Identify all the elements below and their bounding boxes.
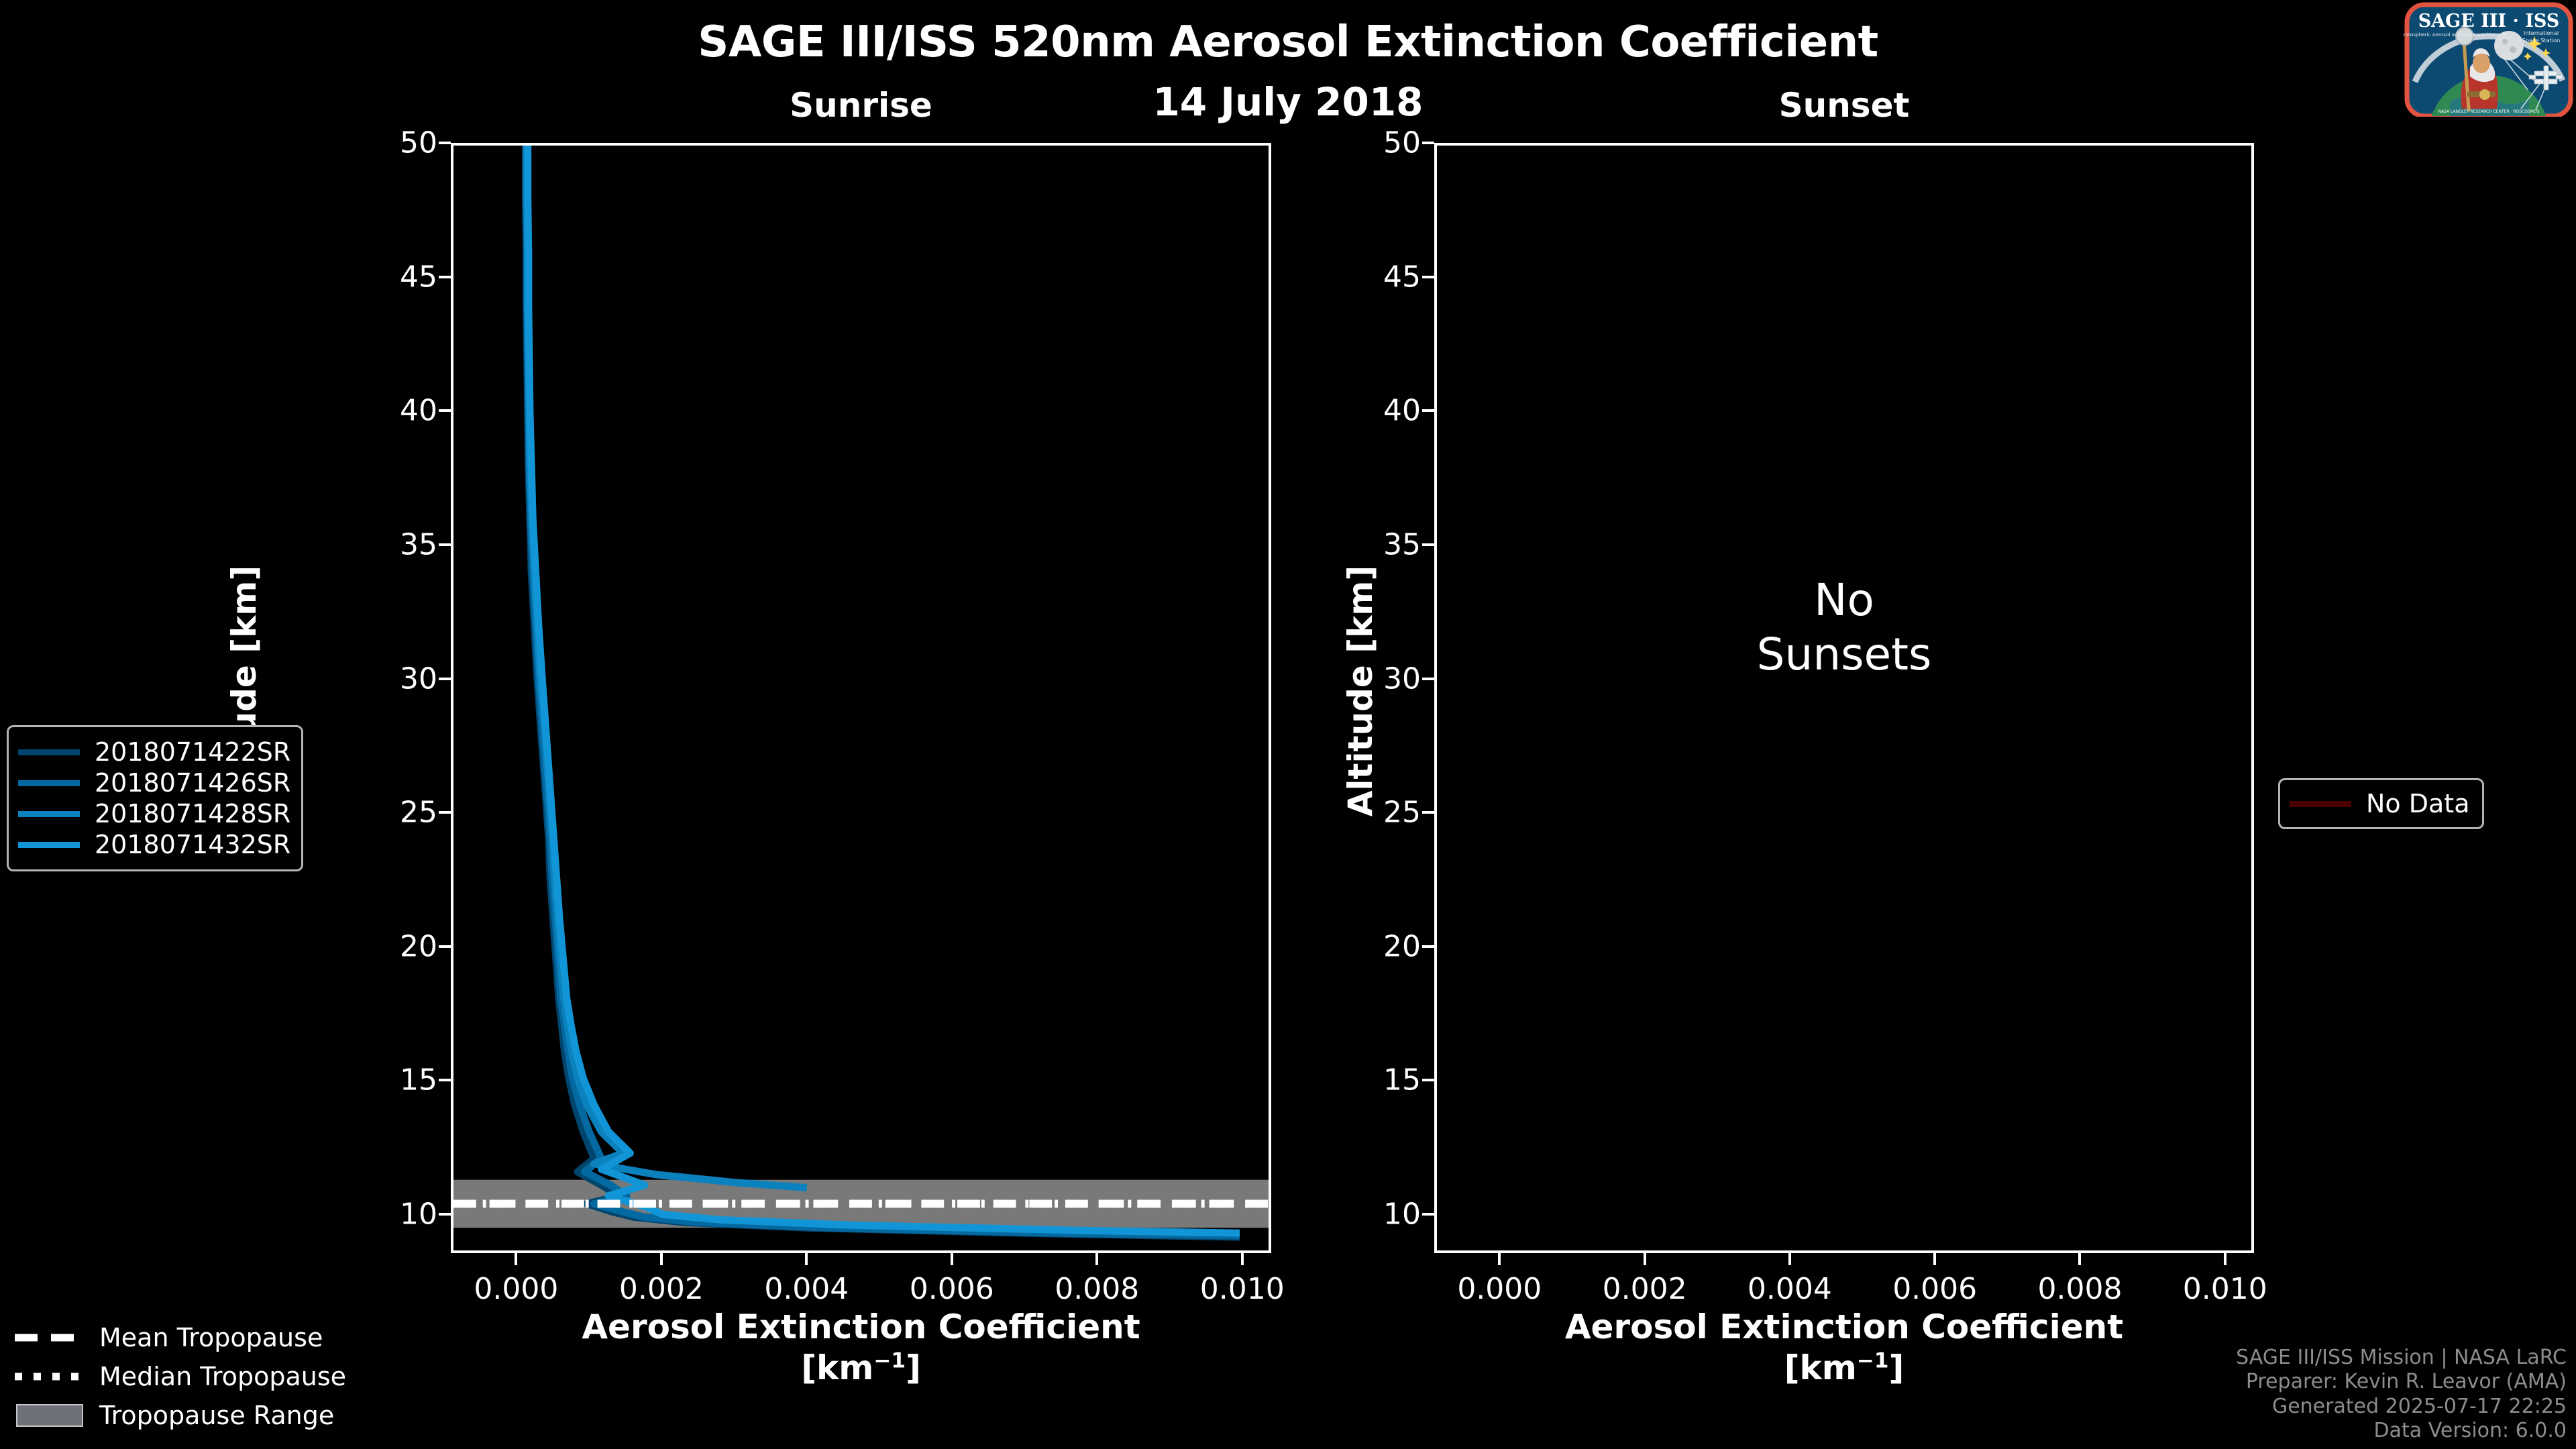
series-color-swatch — [18, 749, 80, 755]
sunset-plot-area — [1434, 143, 2254, 1253]
footer-preparer: Preparer: Kevin R. Leavor (AMA) — [2236, 1370, 2567, 1395]
dashed-line-icon — [15, 1328, 86, 1347]
y-axis-tick-label: 20 — [1327, 929, 1421, 963]
series-label: 2018071428SR — [95, 799, 290, 828]
y-axis-tick-mark — [1422, 678, 1434, 680]
y-axis-tick-label: 50 — [343, 126, 437, 160]
median-tropopause-label: Median Tropopause — [99, 1362, 346, 1391]
y-axis-tick-label: 15 — [1327, 1063, 1421, 1097]
y-axis-tick-mark — [1422, 1079, 1434, 1081]
legend-item[interactable]: 2018071426SR — [18, 767, 290, 798]
sunset-y-axis-title: Altitude [km] — [1341, 517, 1380, 865]
series-line — [528, 146, 1240, 1233]
x-axis-tick-mark — [2224, 1253, 2226, 1265]
y-axis-tick-mark — [439, 1213, 451, 1216]
legend-item[interactable]: No Data — [2290, 788, 2470, 819]
sunset-plot-canvas — [1437, 146, 2251, 1250]
x-axis-tick-mark — [1644, 1253, 1646, 1265]
y-axis-tick-mark — [1422, 811, 1434, 814]
series-line — [526, 146, 1240, 1237]
y-axis-tick-label: 35 — [343, 527, 437, 561]
logo-subtitle-right-1: International — [2524, 30, 2559, 36]
x-axis-title-text: Aerosol Extinction Coefficient — [451, 1307, 1271, 1348]
tropopause-legend-median: Median Tropopause — [15, 1357, 346, 1396]
x-axis-tick-mark — [1788, 1253, 1791, 1265]
y-axis-tick-label: 10 — [1327, 1197, 1421, 1232]
y-axis-tick-mark — [439, 409, 451, 412]
y-axis-tick-mark — [439, 811, 451, 814]
y-axis-tick-mark — [439, 678, 451, 680]
x-axis-tick-mark — [1933, 1253, 1936, 1265]
x-axis-unit: [km−1] — [451, 1348, 1271, 1389]
y-axis-tick-mark — [1422, 543, 1434, 546]
sunrise-panel-title: Sunrise — [451, 86, 1271, 125]
logo-subtitle-left: Stratospheric Aerosol and Gas Experiment… — [2403, 32, 2507, 38]
y-axis-tick-mark — [439, 142, 451, 144]
y-axis-tick-mark — [1422, 409, 1434, 412]
x-axis-tick-mark — [805, 1253, 808, 1265]
x-axis-tick-label: 0.010 — [2131, 1272, 2319, 1306]
dotted-line-icon — [15, 1367, 86, 1386]
x-axis-tick-mark — [1498, 1253, 1501, 1265]
series-color-swatch — [18, 780, 80, 786]
sunrise-plot-area — [451, 143, 1271, 1253]
y-axis-tick-label: 40 — [1327, 394, 1421, 428]
y-axis-tick-mark — [1422, 276, 1434, 278]
sunrise-x-axis-title: Aerosol Extinction Coefficient [km−1] — [451, 1307, 1271, 1389]
series-color-swatch — [18, 842, 80, 848]
tropopause-legend: Mean Tropopause Median Tropopause Tropop… — [15, 1318, 346, 1435]
y-axis-tick-label: 25 — [343, 796, 437, 830]
tropopause-legend-range: Tropopause Range — [15, 1396, 346, 1435]
mean-tropopause-label: Mean Tropopause — [99, 1323, 323, 1352]
no-data-label: No Data — [2366, 789, 2470, 818]
y-axis-tick-mark — [1422, 945, 1434, 948]
no-sunsets-message: No Sunsets — [1434, 574, 2254, 682]
y-axis-tick-label: 15 — [343, 1063, 437, 1097]
legend-item[interactable]: 2018071432SR — [18, 829, 290, 860]
y-axis-tick-mark — [439, 276, 451, 278]
x-axis-tick-label: 0.010 — [1148, 1272, 1336, 1306]
x-axis-tick-mark — [1095, 1253, 1098, 1265]
series-color-swatch — [18, 811, 80, 817]
y-axis-tick-label: 45 — [343, 260, 437, 294]
series-label: 2018071432SR — [95, 830, 290, 859]
sunrise-plot-canvas — [453, 146, 1269, 1250]
y-axis-tick-mark — [439, 543, 451, 546]
x-axis-tick-mark — [2078, 1253, 2081, 1265]
footer-credit: SAGE III/ISS Mission | NASA LaRC Prepare… — [2236, 1346, 2567, 1444]
y-axis-tick-mark — [1422, 142, 1434, 144]
sunset-x-axis-title: Aerosol Extinction Coefficient [km−1] — [1434, 1307, 2254, 1389]
x-axis-unit: [km−1] — [1434, 1348, 2254, 1389]
tropopause-range-label: Tropopause Range — [99, 1401, 334, 1430]
no-sunsets-line1: No — [1434, 574, 2254, 628]
y-axis-tick-label: 40 — [343, 394, 437, 428]
y-axis-tick-mark — [1422, 1213, 1434, 1216]
no-data-legend[interactable]: No Data — [2278, 778, 2484, 829]
footer-data-version: Data Version: 6.0.0 — [2236, 1419, 2567, 1444]
y-axis-tick-mark — [439, 945, 451, 948]
sage-iii-iss-mission-logo-icon: SAGE III · ISS Stratospheric Aerosol and… — [2403, 1, 2575, 117]
series-label: 2018071422SR — [95, 737, 290, 767]
footer-generated: Generated 2025-07-17 22:25 — [2236, 1395, 2567, 1419]
logo-title: SAGE III · ISS — [2418, 11, 2560, 32]
footer-mission: SAGE III/ISS Mission | NASA LaRC — [2236, 1346, 2567, 1371]
y-axis-tick-label: 10 — [343, 1197, 437, 1232]
y-axis-tick-label: 45 — [1327, 260, 1421, 294]
sunset-panel-title: Sunset — [1434, 86, 2254, 125]
legend-item[interactable]: 2018071422SR — [18, 737, 290, 767]
x-axis-tick-mark — [515, 1253, 517, 1265]
y-axis-tick-label: 30 — [343, 661, 437, 696]
page-title: SAGE III/ISS 520nm Aerosol Extinction Co… — [0, 17, 2576, 67]
x-axis-title-text: Aerosol Extinction Coefficient — [1434, 1307, 2254, 1348]
logo-bottom-band: NASA LANGLEY RESEARCH CENTER · ROSCOSMOS — [2438, 109, 2539, 114]
tropopause-legend-mean: Mean Tropopause — [15, 1318, 346, 1357]
x-axis-tick-mark — [1241, 1253, 1244, 1265]
shaded-band-icon — [15, 1406, 86, 1425]
x-axis-tick-mark — [951, 1253, 953, 1265]
logo-subtitle-right-2: Space Station — [2522, 37, 2561, 44]
series-legend[interactable]: 2018071422SR 2018071426SR 2018071428SR 2… — [7, 725, 303, 871]
x-axis-tick-mark — [660, 1253, 663, 1265]
y-axis-tick-label: 20 — [343, 929, 437, 963]
series-label: 2018071426SR — [95, 768, 290, 798]
y-axis-tick-mark — [439, 1079, 451, 1081]
legend-item[interactable]: 2018071428SR — [18, 798, 290, 829]
series-line — [527, 146, 1240, 1236]
no-sunsets-line2: Sunsets — [1434, 628, 2254, 682]
no-data-color-swatch — [2290, 801, 2351, 807]
y-axis-tick-label: 50 — [1327, 126, 1421, 160]
